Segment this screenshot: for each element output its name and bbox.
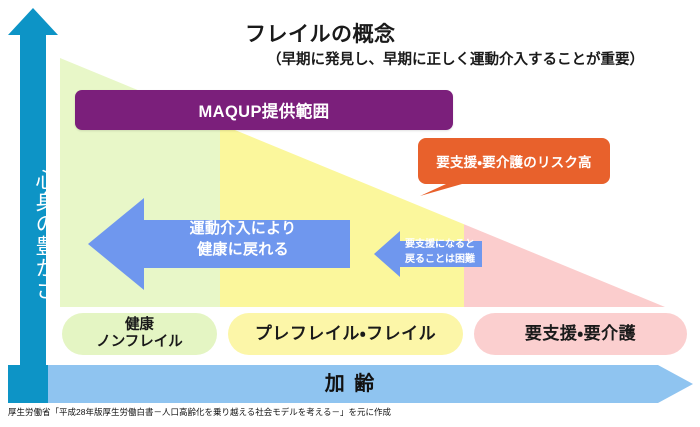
irreversible-arrow-text: 要支援になると 戻ることは困難 bbox=[398, 238, 482, 267]
maqup-scope-banner[interactable]: MAQUP提供範囲 bbox=[75, 90, 453, 130]
diagram-canvas: 心身の豊かさ フレイルの概念 （早期に発見し、早期に正しく運動介入することが重要… bbox=[0, 0, 700, 427]
maqup-scope-label: MAQUP提供範囲 bbox=[198, 98, 329, 122]
source-footnote: 厚生労働省「平成28年版厚生労働白書－人口高齢化を乗り越える社会モデルを考える－… bbox=[8, 407, 668, 418]
irreversible-arrow-line2: 戻ることは困難 bbox=[398, 253, 482, 268]
stage-pill-healthy-text: 健康 ノンフレイル bbox=[96, 317, 183, 352]
stage-pill-healthy-line1: 健康 bbox=[125, 317, 154, 333]
irreversible-arrow-line1: 要支援になると bbox=[398, 238, 482, 253]
horizontal-axis-label: 加 齢 bbox=[8, 365, 693, 403]
stage-pill-healthy-line2: ノンフレイル bbox=[96, 334, 183, 350]
stage-pill-care[interactable]: 要支援・要介護 bbox=[474, 313, 687, 355]
risk-callout-bubble bbox=[418, 138, 610, 196]
stage-pill-frail[interactable]: プレフレイル・フレイル bbox=[228, 313, 463, 355]
vertical-axis-label: 心身の豊かさ bbox=[8, 120, 58, 350]
page-title: フレイルの概念 bbox=[245, 22, 695, 47]
stage-pill-care-text: 要支援・要介護 bbox=[525, 324, 636, 344]
stage-pill-frail-text: プレフレイル・フレイル bbox=[255, 324, 436, 344]
recovery-arrow-line1: 運動介入により bbox=[148, 218, 338, 239]
recovery-arrow-line2: 健康に戻れる bbox=[148, 239, 338, 260]
recovery-arrow-text: 運動介入により 健康に戻れる bbox=[148, 218, 338, 261]
risk-callout[interactable]: 要支援・要介護のリスク高 bbox=[418, 138, 618, 196]
title-block: フレイルの概念 （早期に発見し、早期に正しく運動介入することが重要） bbox=[245, 22, 695, 70]
stage-pill-healthy[interactable]: 健康 ノンフレイル bbox=[62, 313, 217, 355]
page-subtitle: （早期に発見し、早期に正しく運動介入することが重要） bbox=[267, 51, 695, 70]
